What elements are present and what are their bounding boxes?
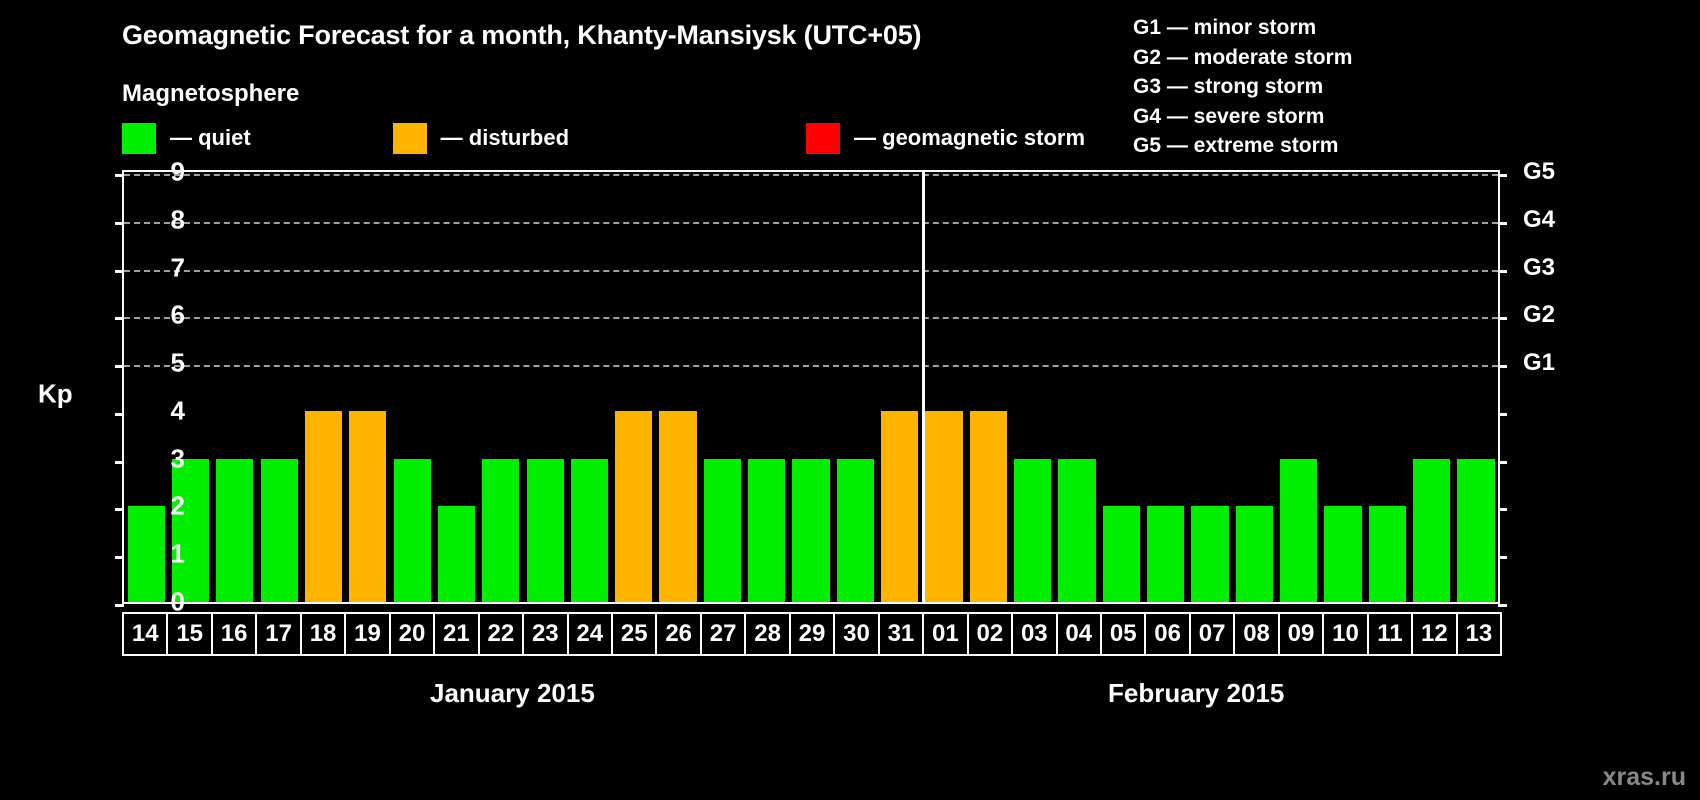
bar-day-21: [438, 506, 475, 602]
legend-label-disturbed: — disturbed: [441, 125, 569, 151]
bar-day-23: [527, 459, 564, 602]
date-cell-22: 22: [478, 612, 524, 656]
y-tick-left-6: [115, 317, 124, 320]
bar-day-02: [970, 411, 1007, 602]
y-tick-left-2: [115, 508, 124, 511]
bar-day-22: [482, 459, 519, 602]
bar-day-28: [748, 459, 785, 602]
date-cell-21: 21: [433, 612, 479, 656]
date-cell-02: 02: [967, 612, 1013, 656]
date-cell-24: 24: [567, 612, 613, 656]
y-tick-right-6: [1498, 317, 1507, 320]
bar-slot: [213, 172, 257, 602]
y-tick-right-1: [1498, 556, 1507, 559]
bar-day-16: [216, 459, 253, 602]
g-axis-label-g5: G5: [1523, 158, 1555, 186]
date-cell-06: 06: [1144, 612, 1190, 656]
month-label-february: February 2015: [1108, 678, 1284, 709]
date-cell-20: 20: [389, 612, 435, 656]
bar-slot: [523, 172, 567, 602]
date-cell-15: 15: [166, 612, 212, 656]
date-cell-19: 19: [344, 612, 390, 656]
y-tick-left-3: [115, 461, 124, 464]
bar-slot: [567, 172, 611, 602]
bar-day-30: [837, 459, 874, 602]
date-cell-29: 29: [789, 612, 835, 656]
bar-day-26: [659, 411, 696, 602]
y-axis-label-2: 2: [145, 491, 185, 522]
bar-slot: [1055, 172, 1099, 602]
y-tick-right-3: [1498, 461, 1507, 464]
legend-swatch-quiet: [122, 123, 156, 154]
bar-day-24: [571, 459, 608, 602]
date-cell-03: 03: [1011, 612, 1057, 656]
bar-day-29: [792, 459, 829, 602]
y-axis-label-9: 9: [145, 157, 185, 188]
bar-slot: [346, 172, 390, 602]
bar-day-15: [172, 459, 209, 602]
date-cell-14: 14: [122, 612, 168, 656]
bar-day-09: [1280, 459, 1317, 602]
y-axis-label-3: 3: [145, 443, 185, 474]
bar-slot: [700, 172, 744, 602]
y-axis-label-6: 6: [145, 300, 185, 331]
date-cell-10: 10: [1322, 612, 1368, 656]
y-tick-right-9: [1498, 174, 1507, 177]
storm-scale-row-g5: G5 — extreme storm: [1133, 131, 1352, 161]
y-axis-title: Kp: [38, 379, 73, 410]
watermark: xras.ru: [1603, 763, 1686, 792]
date-cell-11: 11: [1367, 612, 1413, 656]
date-cell-23: 23: [522, 612, 568, 656]
bar-slot: [1099, 172, 1143, 602]
legend-swatch-geomagnetic-storm: [806, 123, 840, 154]
date-cell-13: 13: [1456, 612, 1502, 656]
bar-day-05: [1103, 506, 1140, 602]
y-axis-label-4: 4: [145, 395, 185, 426]
y-tick-left-0: [115, 604, 124, 607]
y-tick-left-9: [115, 174, 124, 177]
bar-day-10: [1324, 506, 1361, 602]
legend-entry-geomagnetic-storm: — geomagnetic storm: [806, 122, 1085, 154]
y-tick-right-8: [1498, 222, 1507, 225]
y-tick-left-4: [115, 413, 124, 416]
bar-day-17: [261, 459, 298, 602]
g-axis-label-g4: G4: [1523, 206, 1555, 234]
date-axis: 1415161718192021222324252627282930310102…: [122, 612, 1500, 656]
y-tick-left-8: [115, 222, 124, 225]
bar-day-04: [1058, 459, 1095, 602]
date-cell-09: 09: [1278, 612, 1324, 656]
y-tick-right-2: [1498, 508, 1507, 511]
bar-slot: [301, 172, 345, 602]
bar-slot: [745, 172, 789, 602]
storm-scale-legend: G1 — minor stormG2 — moderate stormG3 — …: [1133, 13, 1352, 161]
bar-slot: [1454, 172, 1498, 602]
bar-slot: [1321, 172, 1365, 602]
bar-slot: [168, 172, 212, 602]
date-cell-25: 25: [611, 612, 657, 656]
legend-entry-quiet: — quiet: [122, 122, 251, 154]
bar-day-12: [1413, 459, 1450, 602]
date-cell-26: 26: [655, 612, 701, 656]
bar-day-06: [1147, 506, 1184, 602]
bar-slot: [1144, 172, 1188, 602]
bar-day-27: [704, 459, 741, 602]
bar-day-08: [1236, 506, 1273, 602]
storm-scale-row-g4: G4 — severe storm: [1133, 102, 1352, 132]
bar-slot: [922, 172, 966, 602]
legend-swatch-disturbed: [393, 123, 427, 154]
bar-day-20: [394, 459, 431, 602]
bar-day-13: [1457, 459, 1494, 602]
date-cell-17: 17: [255, 612, 301, 656]
magnetosphere-heading: Magnetosphere: [122, 80, 299, 108]
bar-slot: [390, 172, 434, 602]
y-tick-right-7: [1498, 270, 1507, 273]
date-cell-28: 28: [744, 612, 790, 656]
bar-day-31: [881, 411, 918, 602]
y-tick-right-5: [1498, 365, 1507, 368]
page-title: Geomagnetic Forecast for a month, Khanty…: [122, 20, 921, 51]
bar-series: [124, 172, 1498, 602]
bar-slot: [878, 172, 922, 602]
bar-slot: [612, 172, 656, 602]
date-cell-07: 07: [1189, 612, 1235, 656]
y-axis-label-5: 5: [145, 348, 185, 379]
date-cell-30: 30: [833, 612, 879, 656]
legend-label-quiet: — quiet: [170, 125, 251, 151]
date-cell-27: 27: [700, 612, 746, 656]
date-cell-01: 01: [922, 612, 968, 656]
month-divider-line: [922, 172, 925, 602]
bar-day-25: [615, 411, 652, 602]
bar-slot: [479, 172, 523, 602]
date-cell-18: 18: [300, 612, 346, 656]
bar-slot: [1277, 172, 1321, 602]
storm-scale-row-g2: G2 — moderate storm: [1133, 43, 1352, 73]
bar-slot: [789, 172, 833, 602]
bar-day-11: [1369, 506, 1406, 602]
date-cell-16: 16: [211, 612, 257, 656]
y-tick-left-1: [115, 556, 124, 559]
g-axis-label-g2: G2: [1523, 301, 1555, 329]
bar-slot: [656, 172, 700, 602]
y-tick-right-4: [1498, 413, 1507, 416]
bar-day-01: [925, 411, 962, 602]
y-tick-left-7: [115, 270, 124, 273]
date-cell-12: 12: [1411, 612, 1457, 656]
legend-entry-disturbed: — disturbed: [393, 122, 569, 154]
bar-slot: [1365, 172, 1409, 602]
month-label-january: January 2015: [430, 678, 595, 709]
y-tick-left-5: [115, 365, 124, 368]
magnetosphere-legend: — quiet— disturbed— geomagnetic storm: [122, 122, 1085, 154]
bar-day-18: [305, 411, 342, 602]
bar-day-19: [349, 411, 386, 602]
bar-slot: [257, 172, 301, 602]
date-cell-31: 31: [878, 612, 924, 656]
bar-day-07: [1191, 506, 1228, 602]
y-tick-right-0: [1498, 604, 1507, 607]
g-axis-label-g1: G1: [1523, 349, 1555, 377]
storm-scale-row-g1: G1 — minor storm: [1133, 13, 1352, 43]
legend-label-geomagnetic-storm: — geomagnetic storm: [854, 125, 1085, 151]
bar-slot: [1188, 172, 1232, 602]
bar-day-03: [1014, 459, 1051, 602]
bar-slot: [1011, 172, 1055, 602]
bar-slot: [434, 172, 478, 602]
g-axis-label-g3: G3: [1523, 254, 1555, 282]
bar-slot: [1232, 172, 1276, 602]
storm-scale-row-g3: G3 — strong storm: [1133, 72, 1352, 102]
y-axis-label-7: 7: [145, 252, 185, 283]
bar-slot: [833, 172, 877, 602]
date-cell-05: 05: [1100, 612, 1146, 656]
y-axis-label-8: 8: [145, 204, 185, 235]
date-cell-08: 08: [1233, 612, 1279, 656]
bar-slot: [124, 172, 168, 602]
date-cell-04: 04: [1056, 612, 1102, 656]
chart-plot-area: [122, 170, 1500, 604]
y-axis-label-1: 1: [145, 539, 185, 570]
bar-slot: [966, 172, 1010, 602]
bar-slot: [1410, 172, 1454, 602]
